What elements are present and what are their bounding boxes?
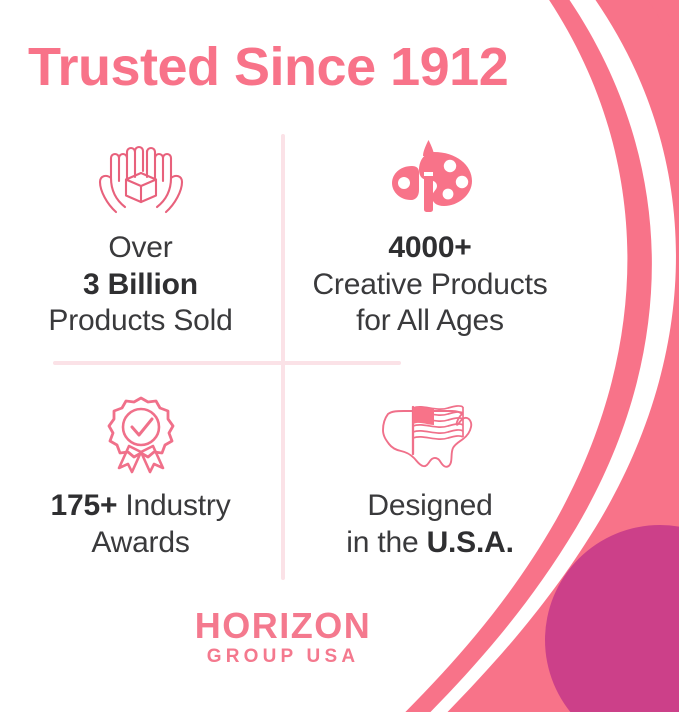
swoosh-corner-wedge [640,0,679,130]
stat-line-1: 4000+ [388,231,471,264]
stat-label-products-sold: Over 3 Billion Products Sold [48,230,232,340]
brand-logo: HORIZON GROUP USA [0,608,566,670]
stat-line-1: Designed [346,488,513,525]
logo-secondary-text: GROUP USA [0,644,566,670]
stat-block-designed-in-usa: Designed in the U.S.A. [285,392,575,561]
award-ribbon-check-icon [99,392,183,478]
logo-primary-text: HORIZON [0,608,566,644]
stat-label-creative-products: 4000+ Creative Products for All Ages [312,230,547,340]
stat-block-industry-awards: 175+ Industry Awards [0,392,281,561]
swoosh-outer-shape [400,0,679,712]
flag-canton-shape [413,407,434,425]
stat-line-2: 3 Billion [83,268,198,301]
usa-map-flag-icon [370,392,490,478]
stat-line-2-bold: U.S.A. [427,526,514,559]
stat-line-2: Awards [50,525,230,562]
swoosh-white-line [392,0,666,712]
page-title: Trusted Since 1912 [28,36,508,98]
swoosh-inner-band [352,0,652,712]
stat-label-designed-in-usa: Designed in the U.S.A. [346,488,513,561]
stat-line-2: Creative Products [312,267,547,304]
check-icon [132,419,152,435]
stat-line-3: for All Ages [312,303,547,340]
infographic-canvas: Trusted Since 1912 [0,0,679,712]
stat-line-1-bold: 175+ [50,489,117,522]
stat-block-creative-products: 4000+ Creative Products for All Ages [285,134,575,340]
stat-line-1-rest: Industry [117,489,230,522]
stat-line-3: Products Sold [48,303,232,340]
horizontal-divider [53,361,401,365]
stat-line-2-rest: in the [346,526,426,559]
medal-scallop-shape [109,398,173,457]
stat-label-industry-awards: 175+ Industry Awards [50,488,230,561]
stat-block-products-sold: Over 3 Billion Products Sold [0,134,281,340]
stat-line-1: Over [48,230,232,267]
hands-holding-box-icon [89,134,193,220]
paint-palette-brush-icon [382,134,478,220]
